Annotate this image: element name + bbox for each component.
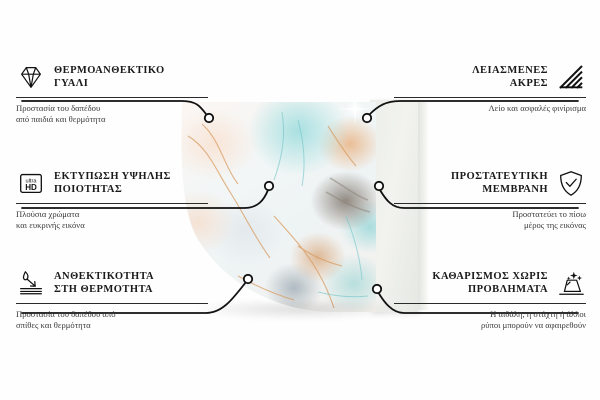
drop-shadow	[192, 302, 406, 320]
glare-sparkle-icon	[344, 98, 366, 120]
feature-title: ΠΡΟΣΤΑΤΕΥΤΙΚΗ ΜΕΜΒΡΑΝΗ	[451, 170, 548, 197]
divider	[394, 303, 586, 304]
product-image	[178, 96, 400, 318]
divider	[394, 203, 586, 204]
feature-title: ΑΝΘΕΚΤΙΚΟΤΗΤΑ ΣΤΗ ΘΕΡΜΟΤΗΤΑ	[54, 270, 154, 297]
svg-text:HD: HD	[25, 183, 37, 192]
diamond-icon	[16, 62, 46, 92]
feature-description: Προστασία του δαπέδου από σπίθες και θερ…	[16, 309, 208, 332]
polished-edge-icon	[556, 62, 586, 92]
feature-title: ΘΕΡΜΟΑΝΘΕΚΤΙΚΟ ΓΥΑΛΙ	[54, 64, 165, 91]
feature-description: Προστατεύει το πίσω μέρος της εικόνας	[394, 209, 586, 232]
feature-heat-durability: ΑΝΘΕΚΤΙΚΟΤΗΤΑ ΣΤΗ ΘΕΡΜΟΤΗΤΑ Προστασία το…	[16, 268, 208, 332]
divider	[16, 97, 208, 98]
marble-artwork	[178, 96, 378, 314]
divider	[394, 97, 586, 98]
feature-heat-resistant-glass: ΘΕΡΜΟΑΝΘΕΚΤΙΚΟ ΓΥΑΛΙ Προστασία του δαπέδ…	[16, 62, 208, 126]
feature-high-quality-print: ultra HD ΕΚΤΥΠΩΣΗ ΥΨΗΛΗΣ ΠΟΙΟΤΗΤΑΣ Πλούσ…	[16, 168, 208, 232]
ultra-hd-icon: ultra HD	[16, 168, 46, 198]
glass-panel	[178, 96, 378, 314]
feature-description: Προστασία του δαπέδου από παιδιά και θερ…	[16, 103, 208, 126]
shield-check-icon	[556, 168, 586, 198]
sponge-sparkle-icon	[556, 268, 586, 298]
feature-polished-edges: ΛΕΙΑΣΜΕΝΕΣ ΑΚΡΕΣ Λείο και ασφαλές φινίρι…	[394, 62, 586, 114]
feature-title: ΕΚΤΥΠΩΣΗ ΥΨΗΛΗΣ ΠΟΙΟΤΗΤΑΣ	[54, 170, 171, 197]
feature-description: Πλούσια χρώματα και ευκρινής εικόνα	[16, 209, 208, 232]
divider	[16, 303, 208, 304]
infographic-stage: ΘΕΡΜΟΑΝΘΕΚΤΙΚΟ ΓΥΑΛΙ Προστασία του δαπέδ…	[0, 0, 600, 400]
flame-floor-icon	[16, 268, 46, 298]
divider	[16, 203, 208, 204]
feature-easy-cleaning: ΚΑΘΑΡΙΣΜΟΣ ΧΩΡΙΣ ΠΡΟΒΛΗΜΑΤΑ Η αιθάλη, η …	[394, 268, 586, 332]
feature-title: ΛΕΙΑΣΜΕΝΕΣ ΑΚΡΕΣ	[472, 64, 548, 91]
feature-title: ΚΑΘΑΡΙΣΜΟΣ ΧΩΡΙΣ ΠΡΟΒΛΗΜΑΤΑ	[432, 270, 548, 297]
feature-protective-membrane: ΠΡΟΣΤΑΤΕΥΤΙΚΗ ΜΕΜΒΡΑΝΗ Προστατεύει το πί…	[394, 168, 586, 232]
feature-description: Λείο και ασφαλές φινίρισμα	[394, 103, 586, 114]
feature-description: Η αιθάλη, η στάχτη ή άλλοι ρύποι μπορούν…	[394, 309, 586, 332]
